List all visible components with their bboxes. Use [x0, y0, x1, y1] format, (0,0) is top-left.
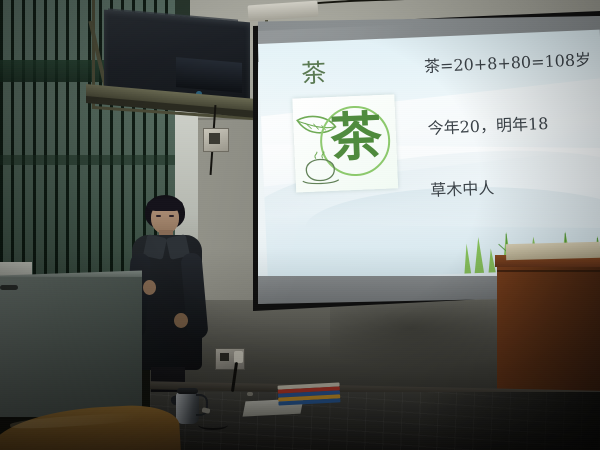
lectern-paper [506, 242, 600, 260]
tea-logo-card: 茶 [292, 94, 398, 192]
left-podium-handle[interactable] [0, 285, 18, 290]
book-stack[interactable] [278, 382, 341, 405]
wall-socket-outlet [220, 353, 229, 361]
left-podium[interactable] [0, 277, 142, 417]
slide-line-3: 草木中人 [430, 174, 495, 201]
kettle-lid[interactable] [177, 388, 198, 394]
floor-shadow [420, 392, 600, 450]
slide-line-2: 今年20，明年18 [427, 110, 549, 139]
presenter-eye-left [156, 215, 161, 217]
slide-title-char: 茶 [300, 53, 328, 90]
presenter-hand-left [143, 280, 156, 295]
presenter-fringe [147, 198, 183, 211]
classroom-scene: 茶 茶=20+8+80=108岁 今年20，明年18 草木中人 茶 [0, 0, 600, 450]
floor-debris [247, 392, 253, 396]
tea-cup-icon [298, 151, 343, 189]
presenter-eye-right [169, 215, 174, 217]
curtain-midrail [0, 155, 175, 165]
presenter-hand-right [174, 313, 188, 328]
kettle-cord [198, 420, 228, 430]
wall-junction-box-inner [209, 133, 220, 144]
lectern-seam [497, 270, 600, 272]
projector-lens [176, 57, 242, 93]
